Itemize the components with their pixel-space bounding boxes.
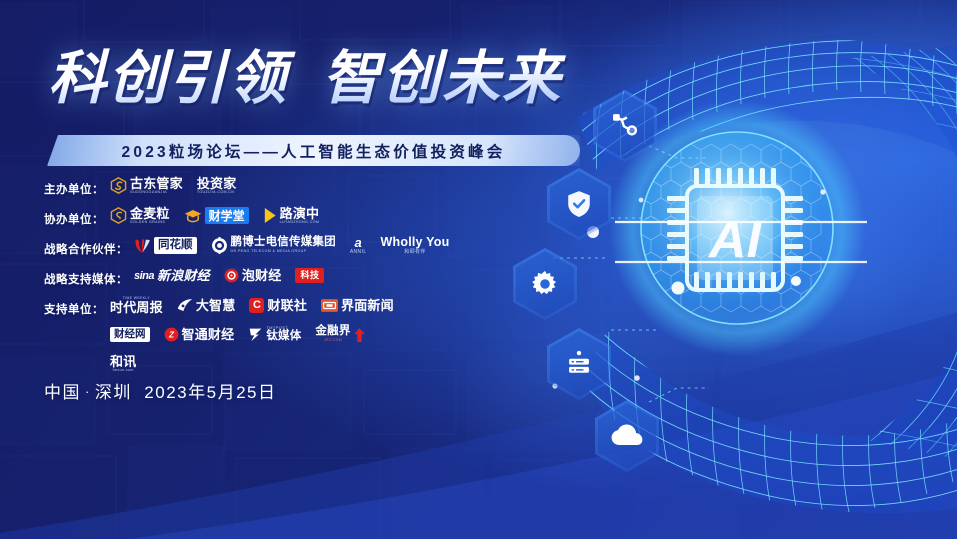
credit-logos: 金麦粒 GOLDEN GRAINS 财学堂 — [104, 206, 319, 225]
play-triangle-icon — [263, 207, 277, 224]
logo-en: JRJ.COM — [324, 339, 342, 343]
logo-cn: 智通财经 — [182, 328, 235, 341]
red-circle-icon: Z — [164, 327, 179, 342]
logo-cn: 古东管家 — [130, 177, 183, 190]
sina-icon: sina — [134, 270, 154, 282]
logo-jiemian-news[interactable]: 界面新闻 — [321, 296, 394, 315]
credit-label: 战略合作伙伴： — [44, 236, 128, 257]
logo-tmtpost[interactable]: TMTPOST 钛媒体 — [248, 325, 301, 344]
red-arrow-icon — [354, 328, 365, 342]
logo-cn: 和颐有伴 — [404, 250, 426, 255]
credit-label: 支持单位： — [44, 296, 104, 317]
credit-label: 协办单位： — [44, 206, 104, 227]
logo-jinmaili[interactable]: 金麦粒 GOLDEN GRAINS — [110, 206, 170, 225]
annil-mono-icon: a — [354, 236, 361, 249]
subtitle-text: 2023粒场论坛——人工智能生态价值投资峰会 — [122, 140, 506, 162]
country-label: 中国 — [44, 383, 81, 402]
logo-cailianshe[interactable]: C 财联社 — [249, 296, 307, 315]
credit-logos: sina 新浪财经 泡财经 — [128, 266, 324, 285]
logo-caixuetang[interactable]: 财学堂 — [184, 206, 249, 225]
svg-text:Z: Z — [167, 331, 174, 340]
title-part-2: 智创未来 — [322, 46, 562, 111]
credit-logos: 古东管家 GUDONGGUANJIA 投资家 TOUZIJIA.COM.CN — [104, 176, 236, 195]
credit-label: 战略支持媒体： — [44, 266, 128, 287]
graduation-cap-icon — [184, 209, 202, 223]
title-part-1: 科创引领 — [48, 46, 288, 111]
logo-cn: 钛媒体 — [266, 331, 301, 343]
credit-row-strategic-media: 战略支持媒体： sina 新浪财经 — [44, 266, 604, 287]
logo-dazhihui[interactable]: 大智慧 — [177, 296, 236, 315]
logo-en: GOLDEN GRAINS — [130, 221, 170, 225]
logo-gudongguanjia[interactable]: 古东管家 GUDONGGUANJIA — [110, 176, 183, 195]
page-title: 科创引领智创未来 — [48, 48, 608, 109]
logo-sina-finance[interactable]: sina 新浪财经 — [134, 266, 210, 285]
logo-zhitong-caijing[interactable]: Z 智通财经 — [164, 325, 235, 344]
logo-cn: 泡财经 — [242, 269, 282, 282]
logo-cn: 新浪财经 — [157, 269, 210, 282]
logo-cn: 和讯 — [110, 355, 136, 368]
logo-cn: 路演中 — [280, 207, 320, 220]
logo-paocaijing[interactable]: 泡财经 — [224, 266, 282, 285]
logo-tonghuashun[interactable]: 同花顺 — [134, 236, 197, 255]
credit-row-coorganizer: 协办单位： 金麦粒 GOLDEN GRAINS — [44, 206, 604, 227]
red-box-icon: 科技 — [295, 268, 324, 283]
logo-jrj[interactable]: 金融界 JRJ.COM — [315, 325, 364, 344]
logo-cn: 财联社 — [267, 299, 307, 312]
red-circle-icon — [224, 268, 239, 283]
poster-text-content: 科创引领智创未来 2023粒场论坛——人工智能生态价值投资峰会 主办单位： — [0, 0, 620, 539]
logo-en: DR.PENG TELECOM & MEDIA GROUP — [231, 250, 336, 254]
gold-swirl-icon — [110, 177, 127, 194]
logo-annil[interactable]: a ANNIL — [350, 236, 367, 255]
logo-en: TOUZIJIA.COM.CN — [197, 191, 237, 195]
credit-logos: 同花顺 鹏博士电信传媒集团 — [128, 236, 449, 255]
logo-cn: 金融界 — [315, 326, 350, 338]
city-label: 深圳 — [95, 383, 132, 402]
logo-luyanzhong[interactable]: 路演中 LUYANZHONG.COM — [263, 206, 320, 225]
separator: · — [85, 384, 91, 399]
gear-ring-icon — [211, 237, 228, 254]
logo-caijingwang[interactable]: 财经网 — [110, 325, 150, 344]
logo-cn: 投资家 — [197, 177, 237, 190]
credit-row-organizer: 主办单位： 古东管家 GUDONGGUANJIA — [44, 176, 604, 197]
tmt-arrow-icon — [248, 327, 263, 342]
red-fan-icon — [134, 238, 151, 254]
credit-logos: TIME WEEKLY 时代周报 大智慧 — [104, 296, 400, 373]
logo-keji[interactable]: 科技 — [295, 266, 324, 285]
logo-en: GUDONGGUANJIA — [130, 191, 183, 195]
logo-shidai-zhoubao[interactable]: TIME WEEKLY 时代周报 — [110, 296, 163, 315]
swoosh-icon — [177, 298, 193, 313]
logo-en: TIME WEEKLY — [123, 297, 150, 300]
logo-en: LUYANZHONG.COM — [280, 221, 320, 225]
logo-hexun[interactable]: 和讯 hexun.com — [110, 354, 136, 373]
logo-cn: 鹏博士电信传媒集团 — [231, 237, 336, 249]
logo-en: ANNIL — [350, 250, 367, 255]
logo-en: TMTPOST — [266, 326, 301, 330]
sina-wordmark: sina — [134, 270, 154, 282]
logo-wholly-you[interactable]: Wholly You 和颐有伴 — [381, 236, 450, 255]
c-badge-icon: C — [249, 298, 264, 313]
conference-poster: AI — [0, 0, 957, 539]
logo-cn: 财经网 — [110, 327, 150, 342]
credit-row-supporters: 支持单位： TIME WEEKLY 时代周报 — [44, 296, 604, 373]
logo-en: hexun.com — [113, 369, 134, 373]
subtitle-banner: 2023粒场论坛——人工智能生态价值投资峰会 — [47, 135, 580, 166]
logo-cn: 同花顺 — [154, 237, 197, 254]
event-location-date: 中国·深圳 2023年5月25日 — [44, 378, 276, 403]
orange-box-icon — [321, 299, 338, 312]
logo-touzijia[interactable]: 投资家 TOUZIJIA.COM.CN — [197, 176, 237, 195]
logo-cn: 财学堂 — [205, 207, 249, 224]
logo-dr-peng[interactable]: 鹏博士电信传媒集团 DR.PENG TELECOM & MEDIA GROUP — [211, 236, 336, 255]
logo-cn: 界面新闻 — [341, 299, 394, 312]
logo-en: Wholly You — [381, 236, 450, 249]
credit-row-strategic-partner: 战略合作伙伴： 同花顺 — [44, 236, 604, 257]
chip-label: AI — [707, 211, 763, 269]
credit-label: 主办单位： — [44, 176, 104, 197]
gold-hex-icon — [110, 207, 127, 224]
logo-cn: 大智慧 — [196, 299, 236, 312]
logo-cn: 金麦粒 — [130, 207, 170, 220]
logo-cn: 时代周报 — [110, 301, 163, 314]
event-date: 2023年5月25日 — [144, 383, 276, 402]
credits-list: 主办单位： 古东管家 GUDONGGUANJIA — [44, 176, 604, 382]
